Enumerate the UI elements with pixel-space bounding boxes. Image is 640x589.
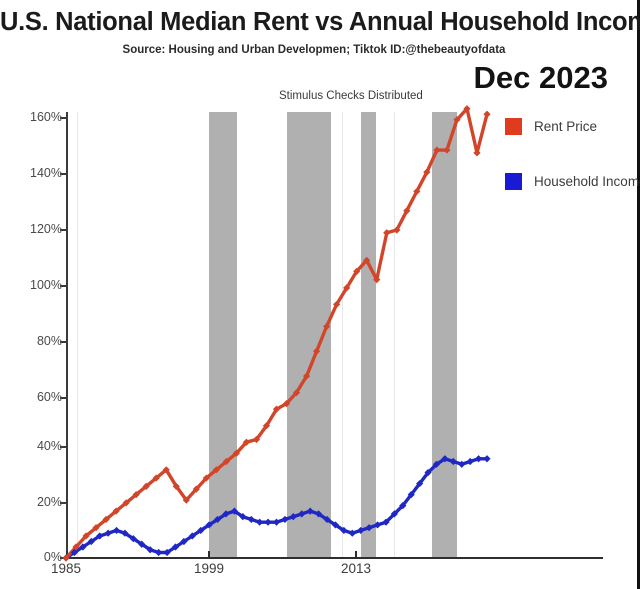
legend-label-rent-price: Rent Price xyxy=(534,119,597,134)
data-point xyxy=(483,455,490,462)
data-point xyxy=(264,519,271,526)
legend-swatch-household-income xyxy=(505,173,522,190)
legend-item-household-income: Household Income xyxy=(505,173,640,190)
legend: Rent Price Household Income xyxy=(505,118,640,228)
data-point xyxy=(483,111,490,118)
legend-swatch-rent-price xyxy=(505,118,522,135)
data-point xyxy=(473,149,480,156)
series-line-rent-price xyxy=(66,109,487,558)
series-markers-rent-price xyxy=(62,105,490,561)
chart-root: U.S. National Median Rent vs Annual Hous… xyxy=(0,0,640,589)
series-markers-household-income xyxy=(62,455,490,561)
data-point xyxy=(383,229,390,236)
legend-item-rent-price: Rent Price xyxy=(505,118,640,135)
legend-label-household-income: Household Income xyxy=(534,174,640,189)
series-canvas xyxy=(0,0,640,589)
series-line-household-income xyxy=(66,459,487,558)
